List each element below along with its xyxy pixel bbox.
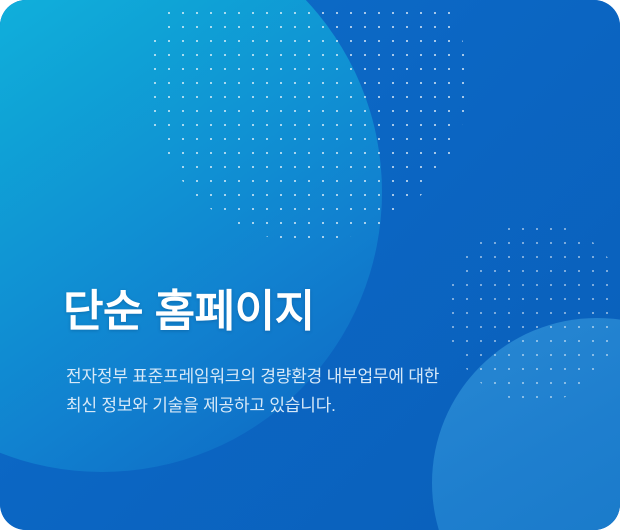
page-title: 단순 홈페이지 xyxy=(63,286,583,338)
hero-subtitle-line-1: 전자정부 표준프레임워크의 경량환경 내부업무에 대한 xyxy=(66,362,566,391)
hero-banner: 단순 홈페이지 전자정부 표준프레임워크의 경량환경 내부업무에 대한 최신 정… xyxy=(0,0,620,530)
hero-subtitle: 전자정부 표준프레임워크의 경량환경 내부업무에 대한 최신 정보와 기술을 제… xyxy=(66,362,566,420)
hero-subtitle-line-2: 최신 정보와 기술을 제공하고 있습니다. xyxy=(66,391,566,420)
hero-copy: 단순 홈페이지 전자정부 표준프레임워크의 경량환경 내부업무에 대한 최신 정… xyxy=(63,286,583,420)
